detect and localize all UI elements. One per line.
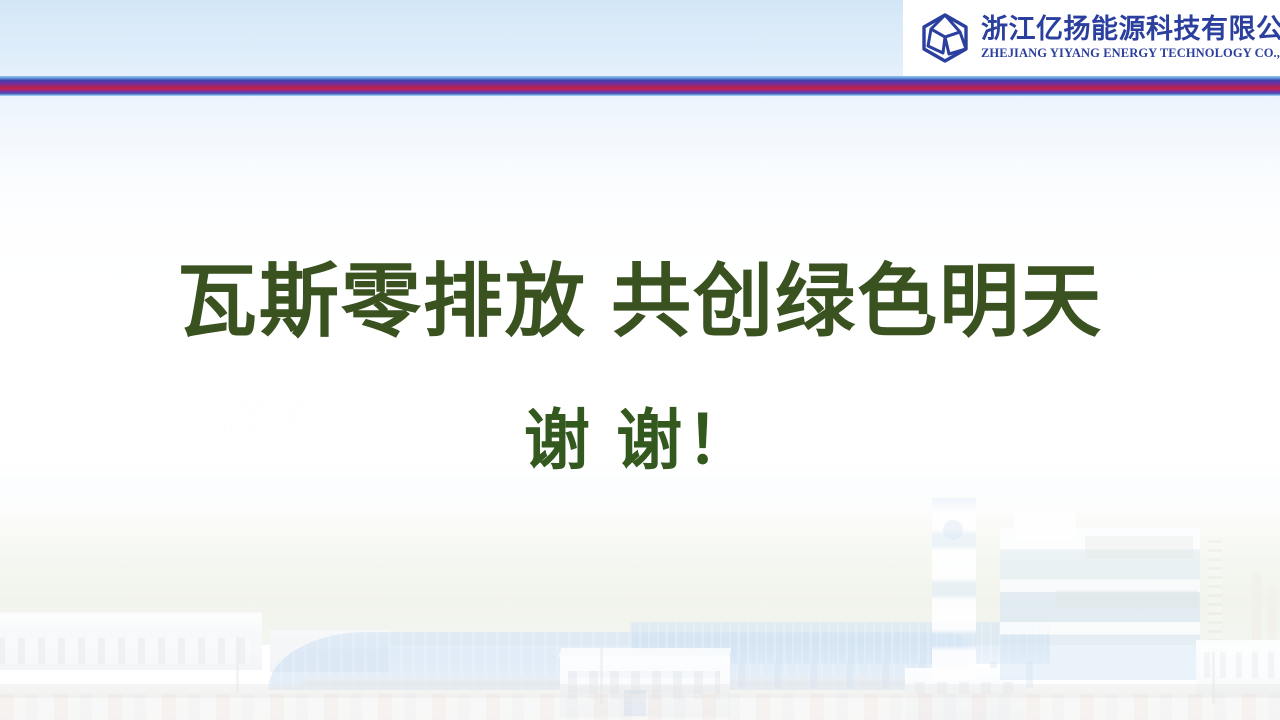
light-pole (600, 648, 603, 704)
header-gradient-stripe (0, 76, 1280, 96)
slide-headline: 瓦斯零排放 共创绿色明天 (0, 258, 1280, 346)
plant-shed-left (0, 612, 262, 670)
thank-you-text: 谢 谢！ (0, 404, 1280, 477)
company-logo-panel: 浙江亿扬能源科技有限公司 ZHEJIANG YIYANG ENERGY TECH… (903, 0, 1280, 76)
hexagon-crystal-logo-icon (919, 12, 971, 64)
plant-rooftop-structure (1014, 510, 1076, 540)
slide-canvas: 浙江亿扬能源科技有限公司 ZHEJIANG YIYANG ENERGY TECH… (0, 0, 1280, 720)
light-pole (1212, 652, 1215, 704)
foreground-container-yard (0, 694, 1280, 720)
plant-window-band-upper (1085, 536, 1193, 558)
company-name-cn: 浙江亿扬能源科技有限公司 (981, 15, 1280, 44)
light-pole (236, 636, 239, 692)
cooling-tower-logo-icon (943, 520, 963, 540)
background-photo (0, 0, 1280, 720)
company-name-en: ZHEJIANG YIYANG ENERGY TECHNOLOGY CO., L… (981, 47, 1280, 61)
plant-window-band-lower (1056, 590, 1198, 608)
company-logo-text: 浙江亿扬能源科技有限公司 ZHEJIANG YIYANG ENERGY TECH… (981, 15, 1280, 61)
